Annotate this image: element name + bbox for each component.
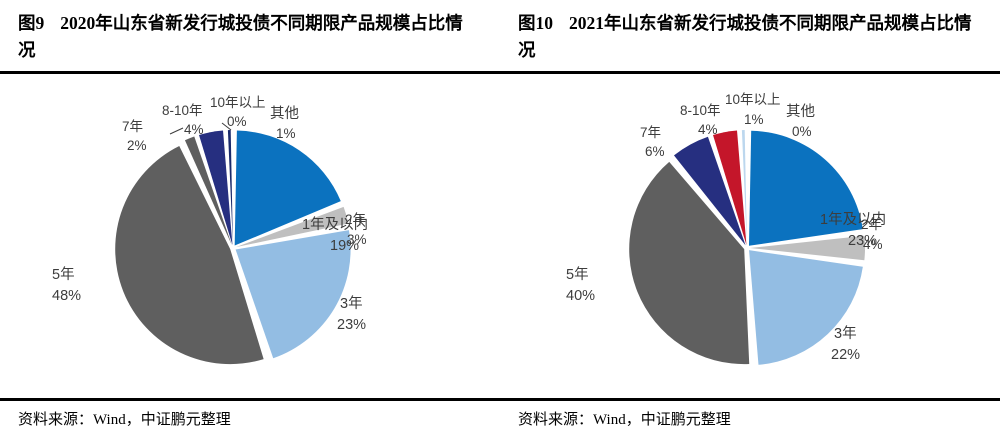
- pie-wedge: [749, 131, 863, 246]
- pie-label-2year-value-left: 3%: [347, 232, 367, 247]
- pie-label-7year-value-left: 2%: [127, 138, 147, 153]
- pie-label-other-name-right: 其他: [786, 103, 815, 120]
- pie-label-over10year-name-right: 10年以上: [725, 92, 781, 107]
- pie-label-3year-value-left: 23%: [337, 317, 366, 333]
- figure-panel-left: 图92020年山东省新发行城投债不同期限产品规模占比情况: [0, 0, 500, 439]
- source-note-right: 资料来源：Wind，中证鹏元整理: [518, 408, 731, 429]
- pie-chart-left: 1年及以内 19% 2年 3% 3年 23% 5年 48% 7年 2% 8-10…: [0, 76, 500, 394]
- leader-line-8to10-left: [170, 128, 183, 134]
- source-note-left: 资料来源：Wind，中证鹏元整理: [18, 408, 231, 429]
- pie-label-7year-name-left: 7年: [122, 119, 143, 134]
- pie-label-8to10year-value-left: 4%: [184, 122, 204, 137]
- pie-chart-right: 1年及以内 23% 2年 4% 3年 22% 5年 40% 7年 6% 8-10…: [500, 76, 1000, 394]
- pie-label-other-name-left: 其他: [270, 105, 299, 122]
- figure-title-left: 2020年山东省新发行城投债不同期限产品规模占比情况: [18, 13, 463, 60]
- figure-panel-right: 图102021年山东省新发行城投债不同期限产品规模占比情况: [500, 0, 1000, 439]
- pie-label-other-value-right: 0%: [792, 124, 812, 139]
- pie-label-8to10year-name-left: 8-10年: [162, 103, 203, 118]
- figure-number-right: 图10: [518, 13, 553, 33]
- pie-label-2year-name-left: 2年: [345, 212, 366, 227]
- pie-label-over10year-value-left: 0%: [227, 114, 247, 129]
- pie-label-over10year-value-right: 1%: [744, 112, 764, 127]
- pie-svg-right: 1年及以内 23% 2年 4% 3年 22% 5年 40% 7年 6% 8-10…: [500, 76, 1000, 394]
- pie-label-3year-value-right: 22%: [831, 347, 860, 363]
- figure-page: 图92020年山东省新发行城投债不同期限产品规模占比情况: [0, 0, 1000, 439]
- page-title-left: 图92020年山东省新发行城投债不同期限产品规模占比情况: [18, 10, 480, 64]
- pie-label-over10year-name-left: 10年以上: [210, 95, 266, 110]
- pie-label-5year-value-left: 48%: [52, 288, 81, 304]
- pie-label-5year-name-left: 5年: [52, 266, 75, 283]
- pie-label-3year-name-left: 3年: [340, 295, 363, 312]
- pie-slice-1year-or-less: [749, 131, 863, 246]
- pie-label-5year-value-right: 40%: [566, 288, 595, 304]
- page-title-right: 图102021年山东省新发行城投债不同期限产品规模占比情况: [518, 10, 980, 64]
- pie-label-7year-name-right: 7年: [640, 125, 661, 140]
- pie-label-5year-name-right: 5年: [566, 266, 589, 283]
- pie-label-other-value-left: 1%: [276, 126, 296, 141]
- pie-label-8to10year-name-right: 8-10年: [680, 103, 721, 118]
- pie-label-2year-value-right: 4%: [863, 237, 883, 252]
- figure-number-left: 图9: [18, 13, 44, 33]
- pie-svg-left: 1年及以内 19% 2年 3% 3年 23% 5年 48% 7年 2% 8-10…: [0, 76, 500, 394]
- pie-label-8to10year-value-right: 4%: [698, 122, 718, 137]
- figure-title-right: 2021年山东省新发行城投债不同期限产品规模占比情况: [518, 13, 972, 60]
- pie-label-2year-name-right: 2年: [861, 217, 882, 232]
- pie-label-7year-value-right: 6%: [645, 144, 665, 159]
- pie-label-3year-name-right: 3年: [834, 325, 857, 342]
